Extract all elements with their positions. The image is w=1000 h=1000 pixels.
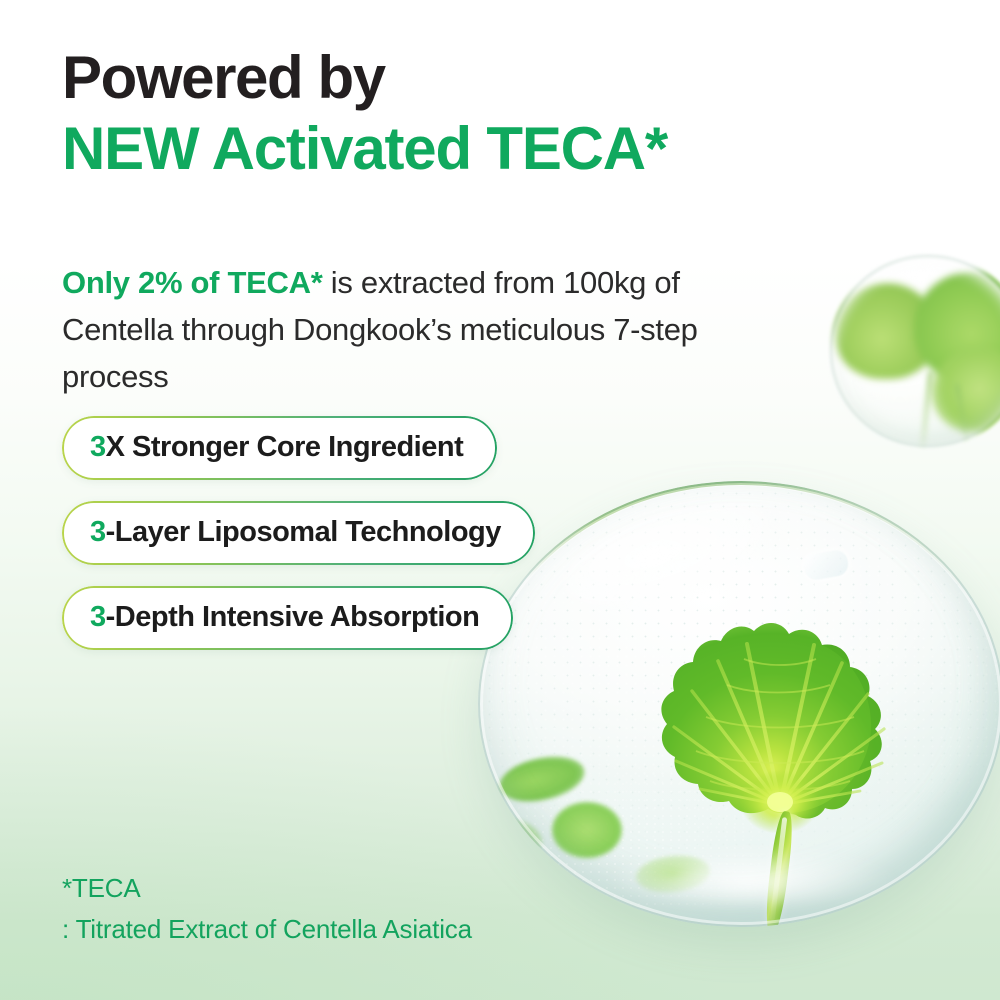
page-title: Powered by NEW Activated TECA* xyxy=(62,46,922,182)
footnote-line-1: *TECA xyxy=(62,868,472,909)
footnote: *TECA : Titrated Extract of Centella Asi… xyxy=(62,868,472,950)
headline-line-2: NEW Activated TECA* xyxy=(62,117,922,182)
headline-line-1: Powered by xyxy=(62,46,922,111)
feature-pill-1-number: 3 xyxy=(90,431,106,463)
feature-pill-1-label: X Stronger Core Ingredient xyxy=(106,431,464,463)
feature-pill-2[interactable]: 3-Layer Liposomal Technology xyxy=(62,501,535,565)
feature-pill-3-number: 3 xyxy=(90,601,106,633)
feature-pill-3[interactable]: 3-Depth Intensive Absorption xyxy=(62,586,513,650)
content-layer: Powered by NEW Activated TECA* Only 2% o… xyxy=(0,0,1000,1000)
feature-pill-2-label: -Layer Liposomal Technology xyxy=(106,516,501,548)
feature-pill-list: 3X Stronger Core Ingredient 3-Layer Lipo… xyxy=(62,416,535,650)
feature-pill-1[interactable]: 3X Stronger Core Ingredient xyxy=(62,416,497,480)
footnote-line-2: : Titrated Extract of Centella Asiatica xyxy=(62,909,472,950)
subheadline: Only 2% of TECA* is extracted from 100kg… xyxy=(62,259,702,400)
feature-pill-3-label: -Depth Intensive Absorption xyxy=(106,601,480,633)
feature-pill-2-number: 3 xyxy=(90,516,106,548)
subheadline-highlight: Only 2% of TECA* xyxy=(62,265,322,300)
promo-poster: Powered by NEW Activated TECA* Only 2% o… xyxy=(0,0,1000,1000)
